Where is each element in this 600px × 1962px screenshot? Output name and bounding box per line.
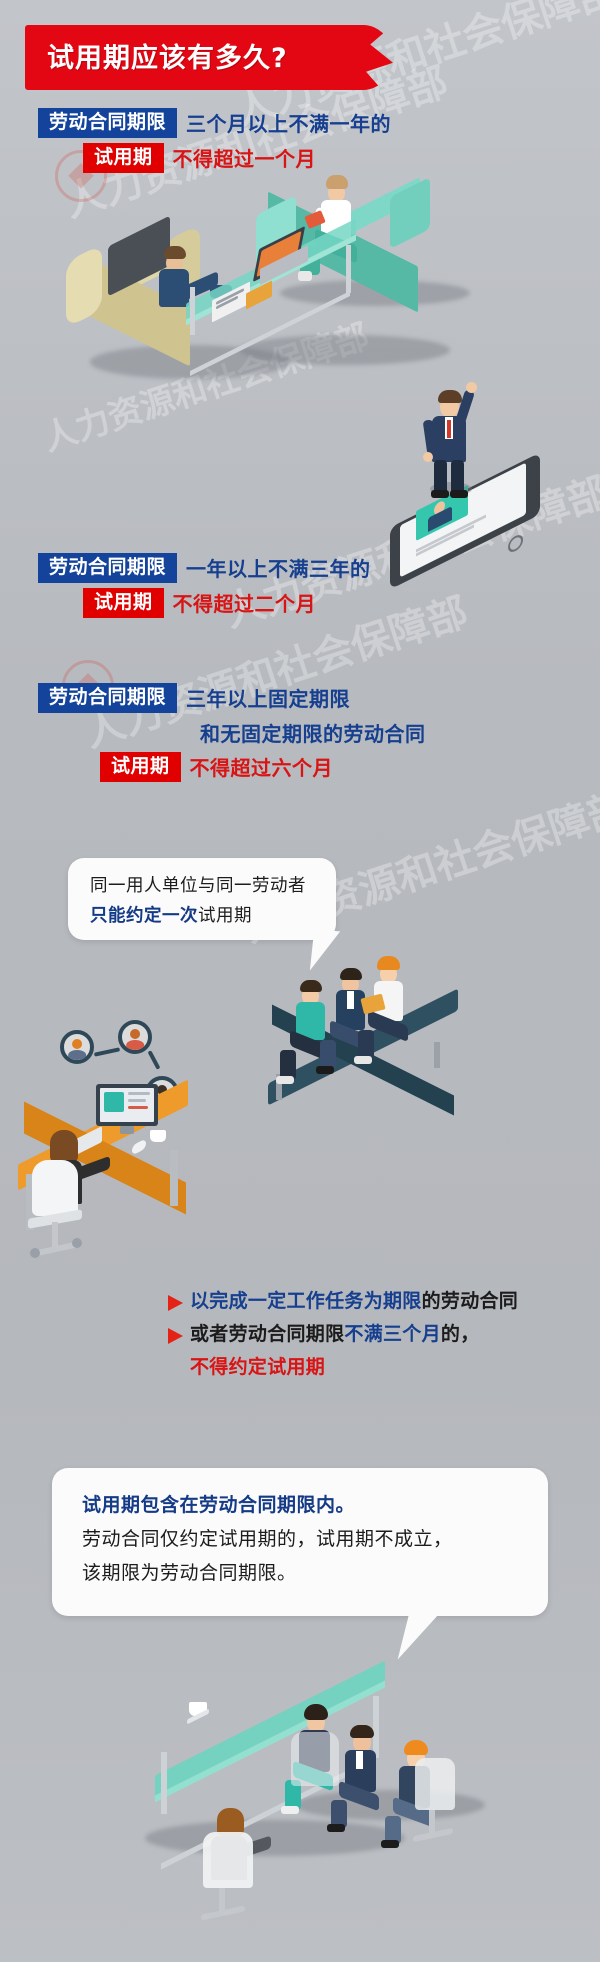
avatar-1 — [60, 1030, 94, 1064]
arrow-row-1-rest: 的劳动合同 — [422, 1290, 519, 1312]
rule-2-probation-value: 不得超过二个月 — [173, 588, 317, 617]
rule-2-probation-row: 试用期 不得超过二个月 — [83, 588, 371, 618]
rule-3-probation-row: 试用期 不得超过六个月 — [100, 752, 426, 782]
rule-3-probation-label: 试用期 — [100, 752, 181, 782]
infographic-page: 人力资源和社会保障部 人力资源和社会保障部 人力资源和社会保障部 人力资源和社会… — [0, 0, 600, 1962]
avatar-connector-2 — [148, 1050, 161, 1070]
rule-3-term-row: 劳动合同期限 三年以上固定期限 — [38, 683, 426, 713]
rule-1-probation-label: 试用期 — [83, 143, 164, 173]
illustration-recruiter-desk — [10, 1010, 270, 1290]
illustration-man-on-tablet — [370, 390, 590, 590]
bubble-once-highlight: 只能约定一次 — [90, 906, 198, 926]
avatar-connector-1 — [94, 1047, 120, 1056]
arrow-row-2-prefix: 或者劳动合同期限 — [190, 1323, 344, 1345]
bubble-once-line1: 同一用人单位与同一劳动者 — [68, 858, 336, 901]
rule-2-probation-label: 试用期 — [83, 588, 164, 618]
rule-1-term-value: 三个月以上不满一年的 — [186, 108, 391, 137]
arrow-row-1: 以完成一定工作任务为期限的劳动合同 — [168, 1288, 588, 1315]
right-triangle-arrow-icon-1 — [168, 1295, 183, 1311]
illustration-candidates-bench — [258, 958, 548, 1128]
rule-1-probation-row: 试用期 不得超过一个月 — [83, 143, 391, 173]
arrow-row-2: 或者劳动合同期限不满三个月的， — [168, 1321, 588, 1348]
rule-3-term-label: 劳动合同期限 — [38, 683, 177, 713]
arrow-row-1-text: 以完成一定工作任务为期限的劳动合同 — [190, 1288, 518, 1315]
arrow-row-3-red-text: 不得约定试用期 — [190, 1354, 588, 1381]
speech-bubble-included: 试用期包含在劳动合同期限内。 劳动合同仅约定试用期的，试用期不成立， 该期限为劳… — [52, 1468, 548, 1616]
rule-1-term-row: 劳动合同期限 三个月以上不满一年的 — [38, 108, 391, 138]
rule-2-term-row: 劳动合同期限 一年以上不满三年的 — [38, 553, 371, 583]
rule-3-term-value: 三年以上固定期限 — [186, 683, 350, 712]
bubble-once-line2: 只能约定一次试用期 — [68, 901, 336, 931]
bubble-included-line2: 劳动合同仅约定试用期的，试用期不成立， — [52, 1520, 548, 1554]
rule-3-term-value-line2: 和无固定期限的劳动合同 — [200, 718, 426, 747]
rule-block-2: 劳动合同期限 一年以上不满三年的 试用期 不得超过二个月 — [38, 553, 371, 623]
arrow-row-2-suffix: 的， — [441, 1323, 480, 1345]
avatar-2 — [118, 1020, 152, 1054]
rule-3-probation-value: 不得超过六个月 — [190, 752, 334, 781]
arrow-rule-block: 以完成一定工作任务为期限的劳动合同 或者劳动合同期限不满三个月的， 不得约定试用… — [168, 1288, 588, 1381]
rule-block-1: 劳动合同期限 三个月以上不满一年的 试用期 不得超过一个月 — [38, 108, 391, 178]
illustration-final-meeting — [115, 1640, 535, 1940]
rule-block-3-content: 劳动合同期限 三年以上固定期限 和无固定期限的劳动合同 试用期 不得超过六个月 — [38, 683, 426, 787]
speech-bubble-once: 同一用人单位与同一劳动者 只能约定一次试用期 — [68, 858, 336, 940]
title-ribbon-tail — [333, 25, 393, 90]
arrow-row-2-highlight: 不满三个月 — [344, 1323, 441, 1345]
page-title: 试用期应该有多久? — [25, 25, 355, 90]
bubble-included-line3: 该期限为劳动合同期限。 — [52, 1554, 548, 1588]
title-text: 试用期应该有多久? — [47, 36, 288, 75]
arrow-row-2-text: 或者劳动合同期限不满三个月的， — [190, 1321, 480, 1348]
rule-1-probation-value: 不得超过一个月 — [173, 143, 317, 172]
rule-2-term-label: 劳动合同期限 — [38, 553, 177, 583]
right-triangle-arrow-icon-2 — [168, 1328, 183, 1344]
rule-1-term-label: 劳动合同期限 — [38, 108, 177, 138]
bubble-once-rest: 试用期 — [198, 906, 252, 926]
rule-2-term-value: 一年以上不满三年的 — [186, 553, 371, 582]
arrow-row-1-highlight: 以完成一定工作任务为期限 — [190, 1290, 422, 1312]
bubble-included-line1: 试用期包含在劳动合同期限内。 — [52, 1468, 548, 1520]
